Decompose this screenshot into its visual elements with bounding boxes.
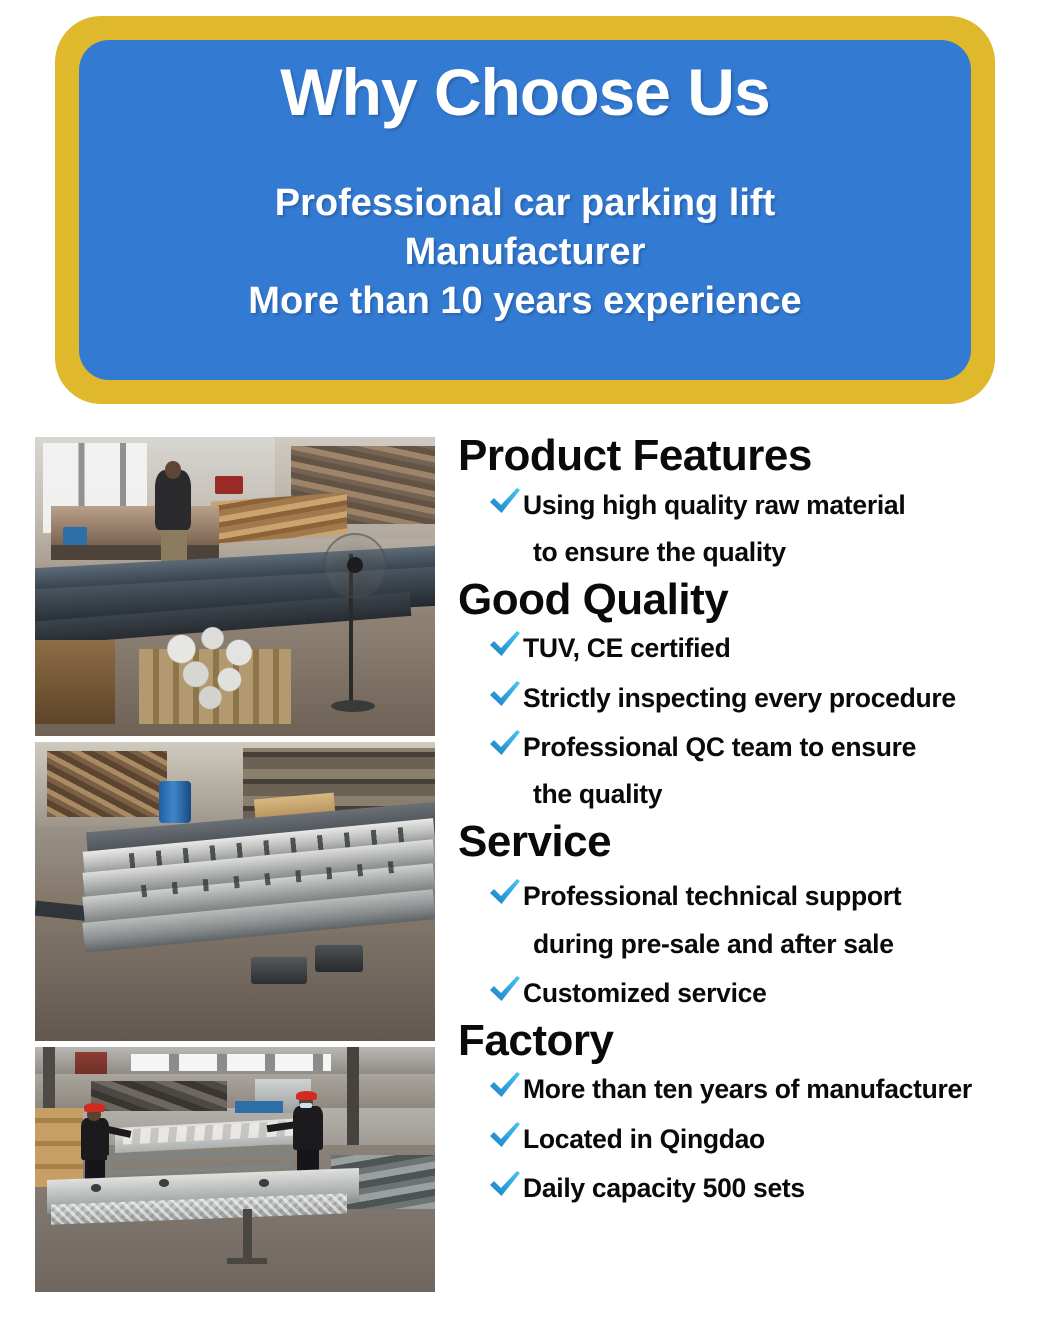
section-service: Service Professional technical support d… bbox=[458, 818, 1060, 1017]
section-title: Product Features bbox=[458, 432, 1060, 480]
check-icon bbox=[488, 1120, 522, 1150]
list-item: Strictly inspecting every procedure bbox=[458, 675, 1060, 722]
check-icon bbox=[488, 1169, 522, 1199]
list-item-label: Located in Qingdao bbox=[523, 1116, 765, 1163]
content-area: Product Features bbox=[0, 430, 1060, 1337]
section-title: Factory bbox=[458, 1017, 1060, 1065]
check-icon bbox=[488, 974, 522, 1004]
list-item-label: Strictly inspecting every procedure bbox=[523, 675, 956, 722]
list-item: More than ten years of manufacturer bbox=[458, 1066, 1060, 1113]
list-item-continuation: the quality bbox=[458, 771, 1060, 818]
banner-subtitle-line-2: Manufacturer bbox=[97, 228, 953, 277]
bullet-list: Professional technical support during pr… bbox=[458, 873, 1060, 1016]
banner-subtitle-line-3: More than 10 years experience bbox=[97, 277, 953, 326]
why-choose-us-banner: Why Choose Us Professional car parking l… bbox=[55, 16, 995, 404]
list-item: TUV, CE certified bbox=[458, 625, 1060, 672]
list-item: Using high quality raw material bbox=[458, 482, 1060, 529]
check-icon bbox=[488, 629, 522, 659]
check-icon bbox=[488, 679, 522, 709]
check-icon bbox=[488, 1070, 522, 1100]
list-item-label: Using high quality raw material bbox=[523, 482, 905, 529]
banner-title: Why Choose Us bbox=[280, 58, 769, 127]
list-item-label: Professional technical support bbox=[523, 873, 901, 920]
check-icon bbox=[488, 728, 522, 758]
list-item: Located in Qingdao bbox=[458, 1116, 1060, 1163]
bullet-list: TUV, CE certified Strictly inspecting ev… bbox=[458, 625, 1060, 818]
features-text-column: Product Features bbox=[435, 430, 1060, 1337]
why-choose-us-page: Why Choose Us Professional car parking l… bbox=[0, 0, 1060, 1337]
list-item-continuation: during pre-sale and after sale bbox=[458, 921, 1060, 968]
banner-subtitle: Professional car parking lift Manufactur… bbox=[79, 179, 971, 325]
section-factory: Factory More than ten years of manufactu… bbox=[458, 1017, 1060, 1212]
photo-galvanized-lift-rails-stack bbox=[35, 742, 435, 1041]
banner-subtitle-line-1: Professional car parking lift bbox=[97, 179, 953, 228]
list-item: Customized service bbox=[458, 970, 1060, 1017]
banner-inner-panel: Why Choose Us Professional car parking l… bbox=[79, 40, 971, 380]
check-icon bbox=[488, 877, 522, 907]
bullet-list: More than ten years of manufacturer Loca… bbox=[458, 1066, 1060, 1211]
list-item-label: More than ten years of manufacturer bbox=[523, 1066, 972, 1113]
section-product-features: Product Features bbox=[458, 432, 1060, 576]
list-item: Professional QC team to ensure bbox=[458, 724, 1060, 771]
section-title: Service bbox=[458, 818, 1060, 866]
list-item-label: Customized service bbox=[523, 970, 767, 1017]
section-good-quality: Good Quality TUV, CE certified bbox=[458, 576, 1060, 818]
section-title: Good Quality bbox=[458, 576, 1060, 624]
factory-photo-column bbox=[0, 430, 435, 1337]
photo-factory-workshop-steel-beams bbox=[35, 437, 435, 736]
list-item-label: Professional QC team to ensure bbox=[523, 724, 916, 771]
list-item: Professional technical support bbox=[458, 873, 1060, 920]
list-item-label: TUV, CE certified bbox=[523, 625, 730, 672]
list-item-continuation: to ensure the quality bbox=[458, 529, 1060, 576]
bullet-list: Using high quality raw material to ensur… bbox=[458, 482, 1060, 576]
photo-workers-assembling-lift-platform bbox=[35, 1047, 435, 1292]
list-item-label: Daily capacity 500 sets bbox=[523, 1165, 805, 1212]
check-icon bbox=[488, 486, 522, 516]
list-item: Daily capacity 500 sets bbox=[458, 1165, 1060, 1212]
